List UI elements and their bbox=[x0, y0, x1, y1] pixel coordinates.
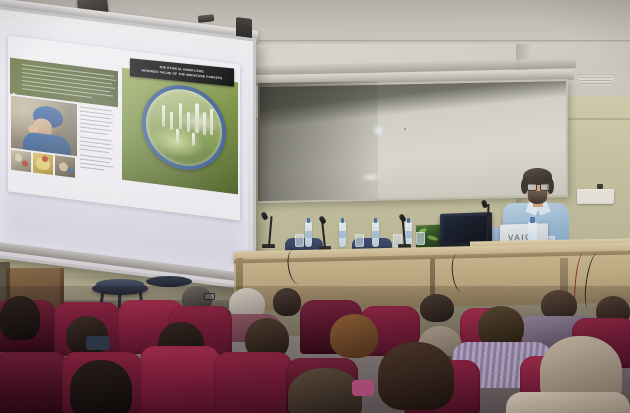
water-bottle bbox=[372, 222, 379, 247]
drinking-glass bbox=[295, 234, 304, 247]
slide-right-column: THE ETHICAL HAND-LENS: INTRINSIC VALUE O… bbox=[120, 49, 240, 220]
theater-seat bbox=[214, 352, 292, 413]
slide-left-column bbox=[8, 35, 120, 205]
lecture-hall-photo: THE ETHICAL HAND-LENS: INTRINSIC VALUE O… bbox=[0, 0, 630, 413]
slide-photo-fieldwork bbox=[11, 96, 77, 156]
audience-head bbox=[273, 288, 301, 316]
drinking-glass bbox=[355, 234, 364, 247]
audience-head bbox=[288, 368, 362, 413]
audience-phone-icon bbox=[86, 336, 110, 350]
audience-accessory bbox=[352, 380, 374, 396]
presentation-slide: THE ETHICAL HAND-LENS: INTRINSIC VALUE O… bbox=[8, 35, 240, 220]
drinking-glass bbox=[416, 232, 425, 245]
projection-screen: THE ETHICAL HAND-LENS: INTRINSIC VALUE O… bbox=[0, 20, 248, 273]
whiteboard-mark bbox=[404, 128, 406, 130]
audience-glasses-icon bbox=[204, 293, 215, 300]
theater-seat bbox=[140, 346, 220, 413]
ac-vent-icon bbox=[578, 74, 614, 87]
theater-seat bbox=[0, 352, 68, 413]
whiteboard-light-reflection bbox=[372, 124, 385, 137]
presenter-beard bbox=[528, 191, 547, 204]
slide-body-text bbox=[80, 106, 114, 180]
whiteboard-glare bbox=[360, 172, 382, 182]
whiteboard-shadow bbox=[258, 81, 378, 201]
audience-head-redhead bbox=[330, 314, 378, 358]
glasses-icon bbox=[527, 183, 548, 189]
slide-thumbnail bbox=[11, 150, 31, 173]
audience-head bbox=[378, 342, 454, 410]
slide-photo-hand-lens bbox=[122, 68, 238, 195]
bottle-cap bbox=[530, 217, 535, 223]
audience-head bbox=[420, 294, 454, 322]
water-bottle bbox=[339, 222, 346, 247]
monitor-screen bbox=[443, 215, 489, 243]
audience-head bbox=[70, 360, 132, 413]
water-bottle bbox=[305, 222, 312, 247]
audience-head bbox=[0, 296, 40, 340]
slide-thumbnail bbox=[33, 153, 53, 176]
audience-shoulders bbox=[506, 392, 630, 413]
light-switch-panel[interactable] bbox=[577, 189, 614, 204]
slide-thumbnail bbox=[55, 155, 75, 178]
